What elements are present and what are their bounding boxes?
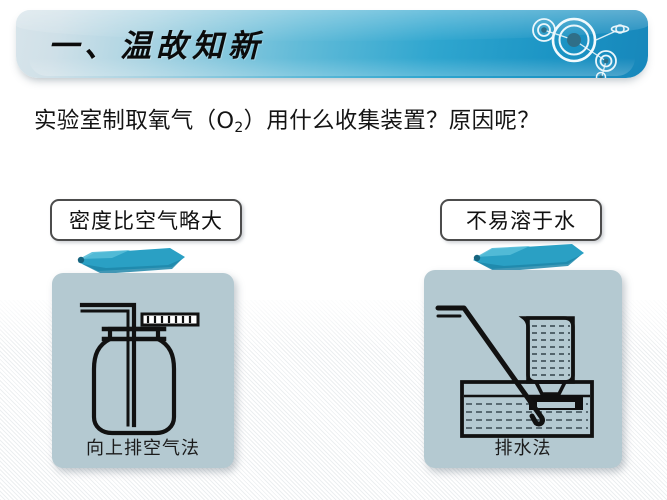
slide-canvas: 一、温故知新 实验室制取氧气（O2）用什么收集装置？原因呢？ 密度比空气略大 不…: [0, 0, 667, 500]
caption-upward-air-displacement: 向上排空气法: [52, 434, 234, 460]
clip-body: [473, 244, 584, 269]
caption-water-displacement: 排水法: [424, 434, 622, 460]
question-part-1: 实验室制取氧气（O: [34, 108, 234, 134]
apparatus-card-upward-air-displacement: 向上排空气法: [52, 273, 234, 468]
concentric-circles-network-icon: [510, 10, 640, 78]
question-text: 实验室制取氧气（O2）用什么收集装置？原因呢？: [34, 103, 540, 135]
header-banner: 一、温故知新: [16, 10, 648, 78]
oxygen-subscript: 2: [234, 120, 243, 136]
page-title: 一、温故知新: [48, 21, 264, 66]
inverted-bottle: [524, 318, 573, 394]
question-part-2: ）用什么收集装置？原因呢？: [244, 108, 540, 134]
label-density-greater-than-air: 密度比空气略大: [50, 199, 242, 241]
water-trough: [462, 382, 592, 436]
apparatus-card-water-displacement: 排水法: [424, 270, 622, 468]
clip-body: [78, 248, 185, 271]
beehive-shelf: [530, 396, 582, 409]
label-insoluble-in-water: 不易溶于水: [440, 199, 602, 241]
glass-cover-plate: [142, 314, 198, 325]
big-circle: [553, 19, 595, 61]
